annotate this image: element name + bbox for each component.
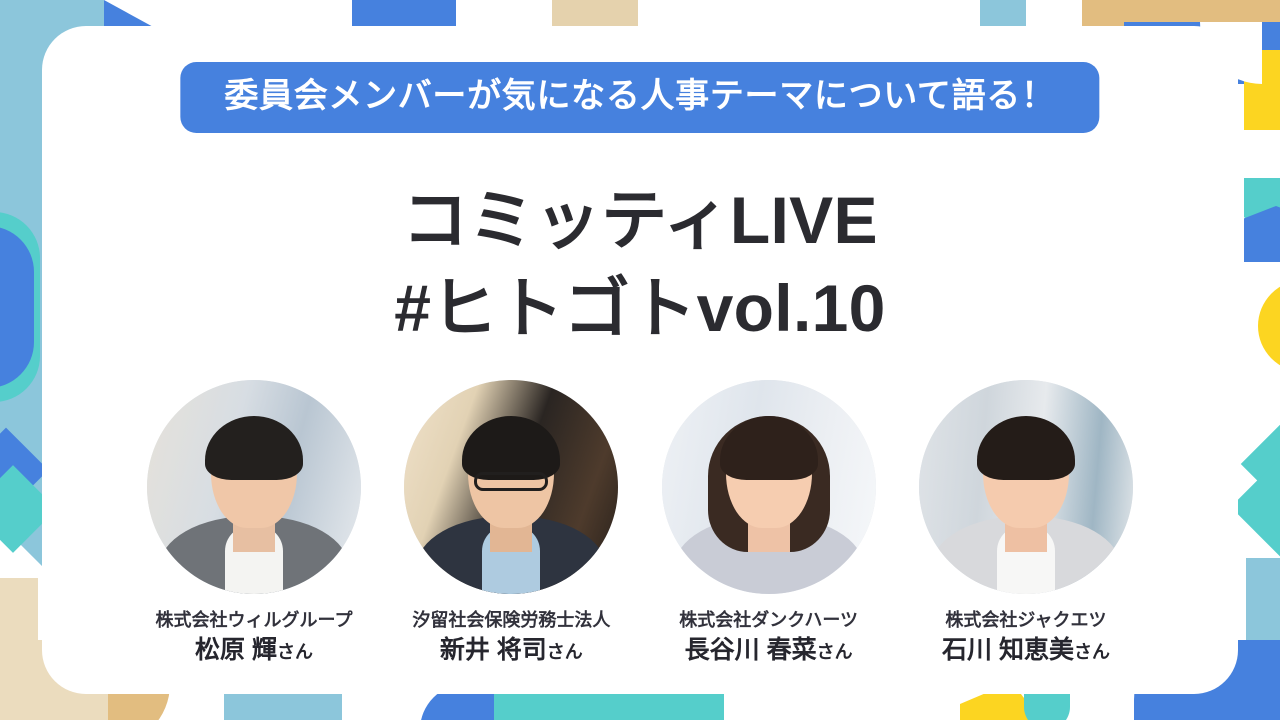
portrait-arai — [404, 380, 618, 594]
speaker-company-4: 株式会社ジャクエツ — [912, 609, 1140, 632]
speaker-name-text-4: 石川 知恵美 — [942, 636, 1074, 664]
title-line-1: コミッティLIVE — [0, 176, 1280, 264]
speaker-honorific-4: さん — [1074, 642, 1110, 662]
shape-light-blue-block-bottom — [224, 690, 342, 720]
speaker-name-text-1: 松原 輝 — [195, 636, 277, 664]
portrait-glasses — [474, 472, 548, 491]
presentation-slide: 委員会メンバーが気になる人事テーマについて語る！ コミッティLIVE #ヒトゴト… — [0, 0, 1280, 720]
speaker-card-3: 株式会社ダンクハーツ 長谷川 春菜さん — [655, 380, 883, 667]
speaker-card-1: 株式会社ウィルグループ 松原 輝さん — [140, 380, 368, 667]
speaker-name-text-2: 新井 将司 — [440, 636, 547, 664]
speaker-card-4: 株式会社ジャクエツ 石川 知恵美さん — [912, 380, 1140, 667]
shape-light-blue-square-bottomright — [1246, 558, 1280, 642]
speaker-company-1: 株式会社ウィルグループ — [140, 609, 368, 632]
speaker-honorific-1: さん — [277, 642, 313, 662]
speaker-company-3: 株式会社ダンクハーツ — [655, 609, 883, 632]
speaker-honorific-3: さん — [817, 642, 853, 662]
portrait-ishikawa — [919, 380, 1133, 594]
headline-banner: 委員会メンバーが気になる人事テーマについて語る！ — [180, 62, 1099, 133]
speaker-name-text-3: 長谷川 春菜 — [685, 636, 817, 664]
portrait-matsubara — [147, 380, 361, 594]
speaker-name-3: 長谷川 春菜さん — [655, 635, 883, 666]
speaker-company-2: 汐留社会保険労務士法人 — [397, 609, 625, 632]
headline-banner-text: 委員会メンバーが気になる人事テーマについて語る！ — [224, 79, 1055, 113]
speaker-name-2: 新井 将司さん — [397, 635, 625, 666]
portrait-hasegawa — [662, 380, 876, 594]
title-line-2: #ヒトゴトvol.10 — [0, 264, 1280, 352]
speaker-name-1: 松原 輝さん — [140, 635, 368, 666]
speaker-honorific-2: さん — [547, 642, 583, 662]
speaker-list: 株式会社ウィルグループ 松原 輝さん 汐留社会保険労務士法人 新井 将司さん — [140, 380, 1140, 667]
speaker-card-2: 汐留社会保険労務士法人 新井 将司さん — [397, 380, 625, 667]
speaker-name-4: 石川 知恵美さん — [912, 635, 1140, 666]
page-title: コミッティLIVE #ヒトゴトvol.10 — [0, 176, 1280, 353]
